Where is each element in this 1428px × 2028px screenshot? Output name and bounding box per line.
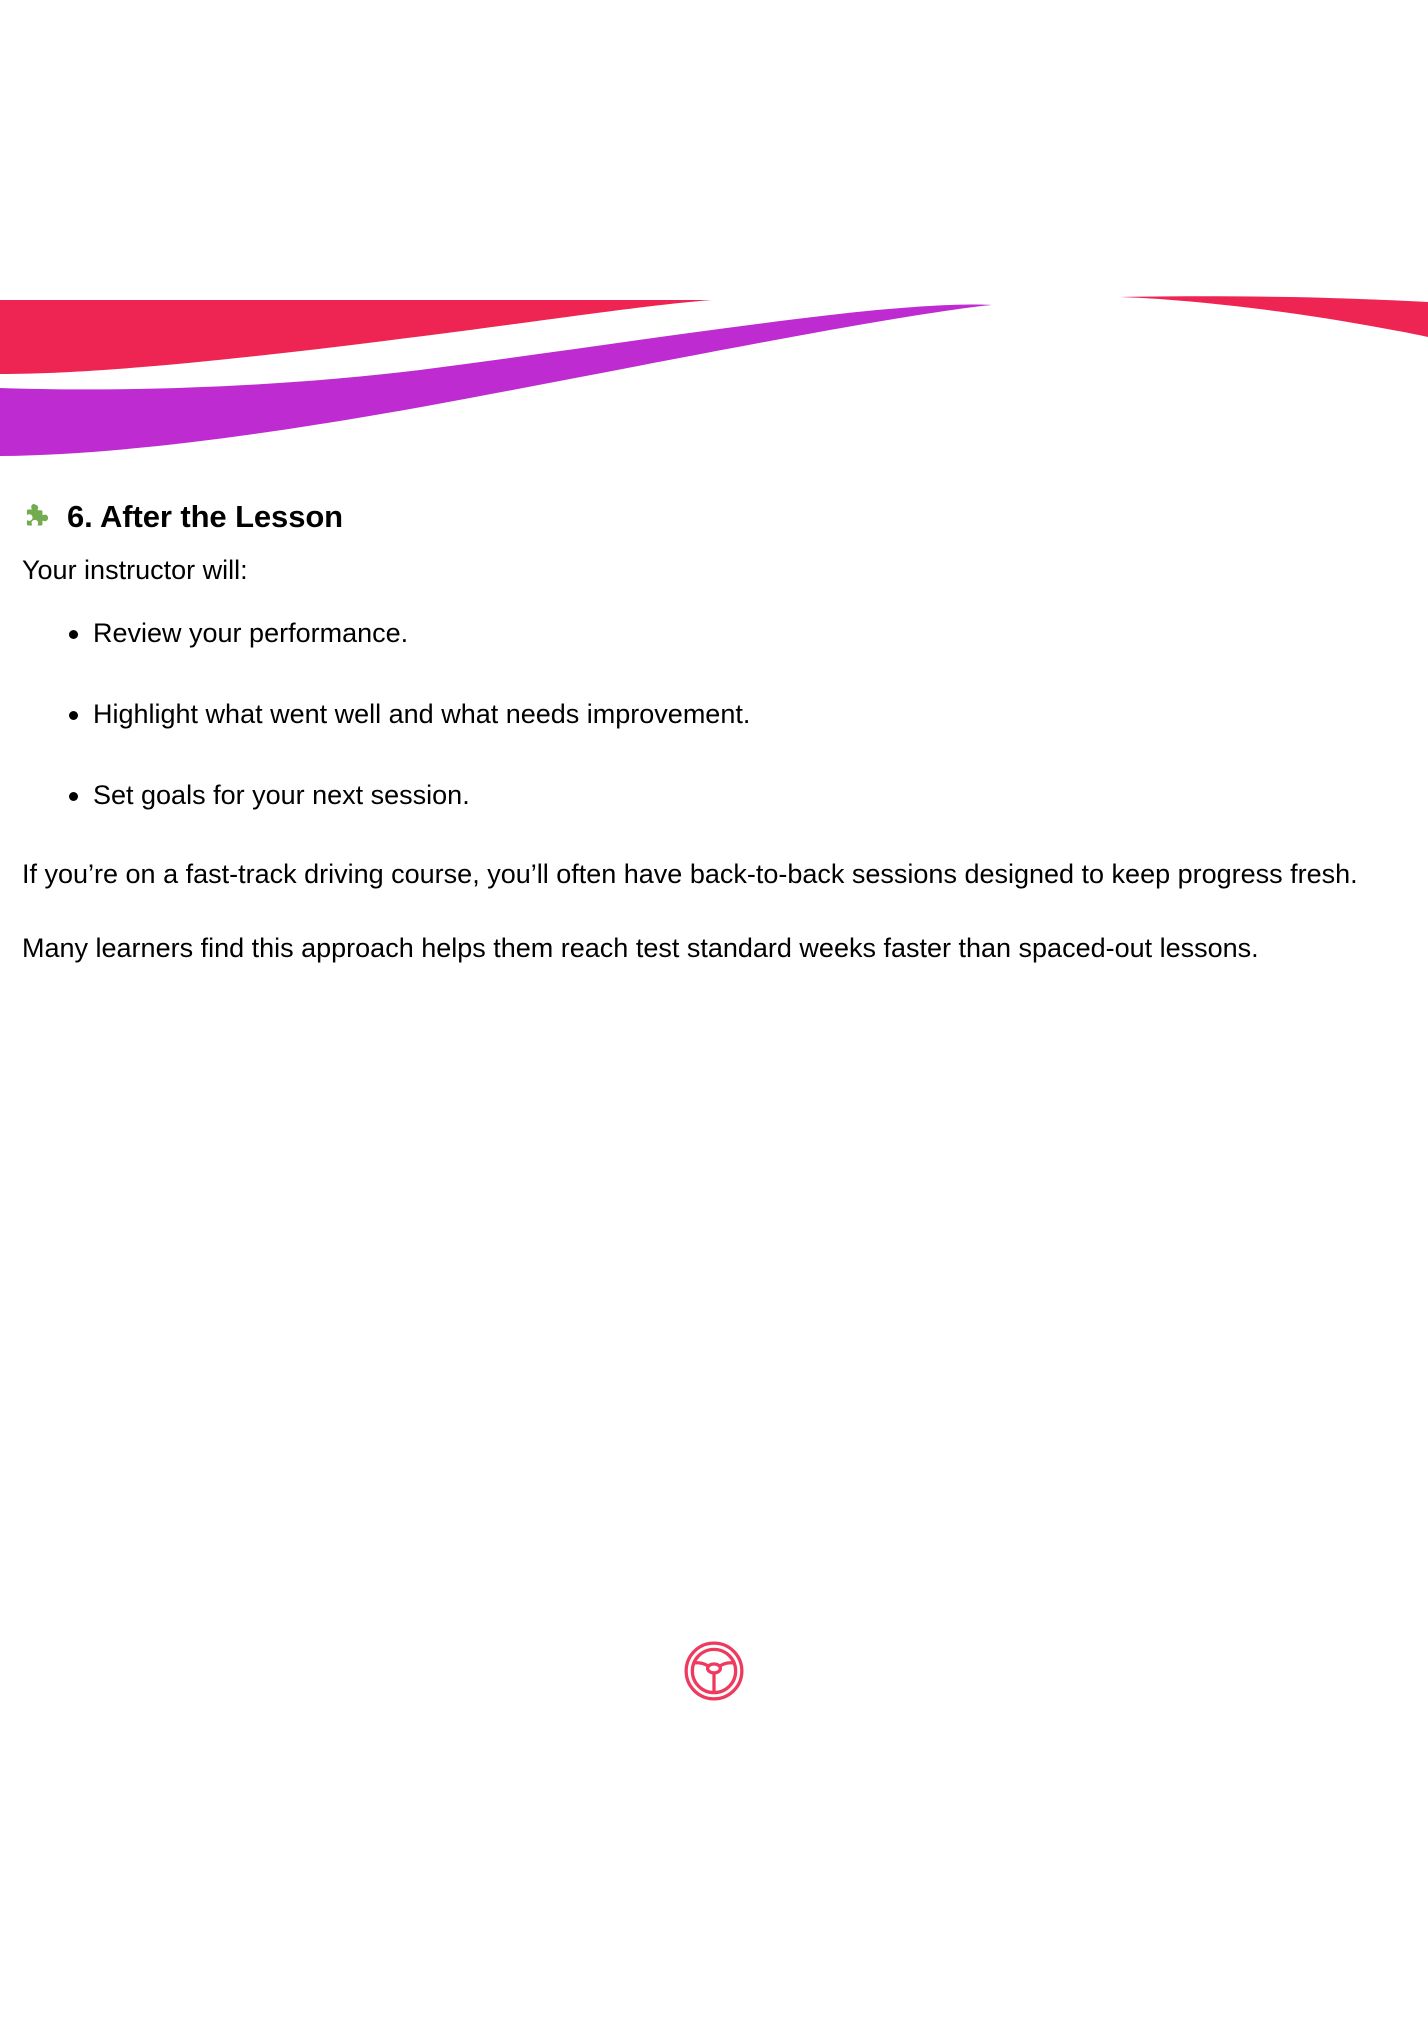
list-item: Review your performance. [22,616,1406,652]
page-title-text: 6. After the Lesson [67,498,343,537]
footer-logo [0,1638,1428,1704]
page-content: 6. After the Lesson Your instructor will… [22,498,1406,966]
left-purple-wave [0,304,992,456]
instructor-actions-list: Review your performance. Highlight what … [22,616,1406,813]
right-red-wave [1120,296,1428,337]
page-title: 6. After the Lesson [22,498,1406,537]
puzzle-piece-icon [22,501,56,535]
body-paragraph-1: If you’re on a fast-track driving course… [22,856,1406,892]
left-red-wave [0,300,712,374]
list-item: Highlight what went well and what needs … [22,697,1406,733]
steering-wheel-icon [681,1638,747,1704]
list-item: Set goals for your next session. [22,778,1406,814]
document-page: 6. After the Lesson Your instructor will… [0,0,1428,2028]
header-wave-banner [0,0,1428,470]
lead-paragraph: Your instructor will: [22,553,1406,589]
body-paragraph-2: Many learners find this approach helps t… [22,930,1406,966]
